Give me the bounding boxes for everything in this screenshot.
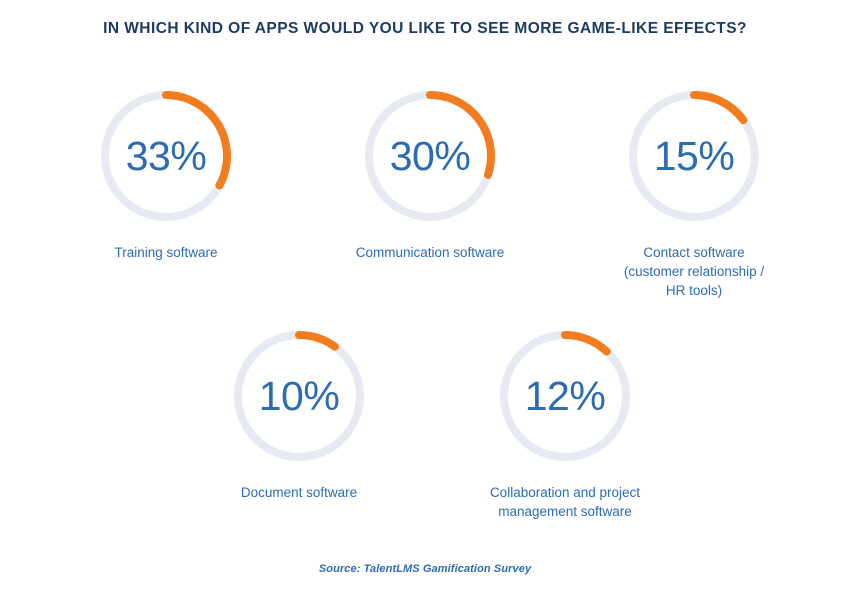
donut-chart-1: 30% [360,86,500,226]
donut-card-communication-software: 30% Communication software [343,86,517,262]
donut-card-collaboration-software: 12% Collaboration and project management… [478,326,652,521]
donut-value-2: 15% [624,86,764,226]
page-title: IN WHICH KIND OF APPS WOULD YOU LIKE TO … [0,20,850,38]
source-note: Source: TalentLMS Gamification Survey [0,563,850,575]
donut-row-bottom: 10% Document software 12% Collaboration … [0,326,850,521]
donut-chart-0: 33% [96,86,236,226]
donut-label-0: Training software [114,243,217,262]
donut-value-1: 30% [360,86,500,226]
donut-label-3: Document software [241,483,357,502]
donut-value-0: 33% [96,86,236,226]
infographic-canvas: IN WHICH KIND OF APPS WOULD YOU LIKE TO … [0,0,850,596]
donut-label-2: Contact software (customer relationship … [624,243,764,300]
donut-card-contact-software: 15% Contact software (customer relations… [607,86,781,300]
donut-chart-4: 12% [495,326,635,466]
donut-value-4: 12% [495,326,635,466]
donut-label-1: Communication software [356,243,505,262]
donut-chart-3: 10% [229,326,369,466]
donut-value-3: 10% [229,326,369,466]
donut-chart-2: 15% [624,86,764,226]
donut-card-training-software: 33% Training software [79,86,253,262]
donut-label-4: Collaboration and project management sof… [490,483,640,521]
donut-card-document-software: 10% Document software [212,326,386,502]
donut-row-top: 33% Training software 30% Communication … [0,86,850,300]
